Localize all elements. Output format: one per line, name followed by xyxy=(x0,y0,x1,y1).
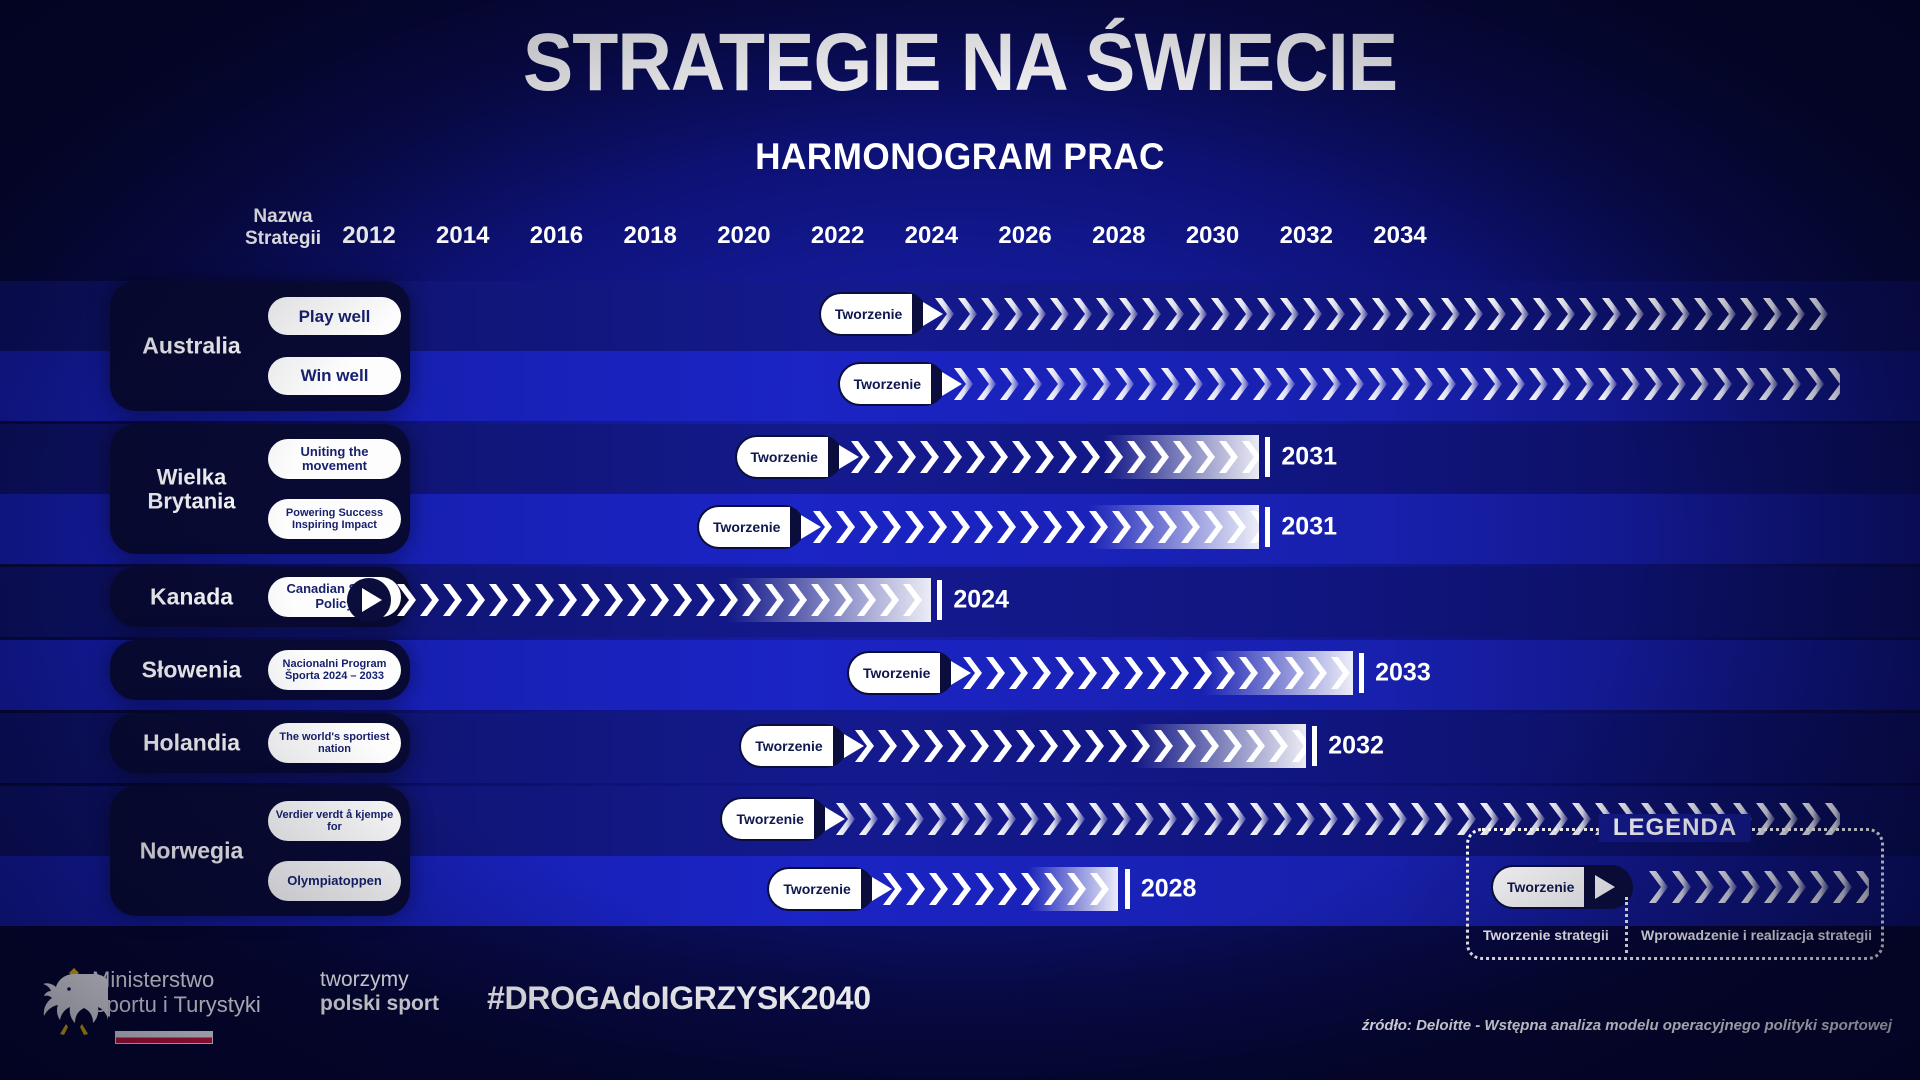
timeline-bar: 2024 xyxy=(0,578,1920,622)
source-note: źródło: Deloitte - Wstępna analiza model… xyxy=(1362,1017,1892,1034)
implementation-phase-chevrons xyxy=(881,867,1118,911)
creation-phase-pill[interactable]: Tworzenie xyxy=(697,505,805,549)
legend-creation-label: Tworzenie xyxy=(1493,867,1584,907)
end-year-label: 2031 xyxy=(1281,443,1337,472)
creation-phase-pill[interactable]: Tworzenie xyxy=(847,651,955,695)
creation-phase-pill[interactable]: Tworzenie xyxy=(767,867,875,911)
year-axis: 2012201420162018202020222024202620282030… xyxy=(0,222,1920,266)
slogan: tworzymy polski sport xyxy=(320,968,439,1016)
polish-flag-bar xyxy=(115,1031,213,1044)
creation-phase-label: Tworzenie xyxy=(699,507,790,547)
end-marker-tick xyxy=(1125,869,1130,909)
page-title: STRATEGIE NA ŚWIECIE xyxy=(77,22,1843,104)
legend-chevron-strip xyxy=(1647,865,1869,909)
creation-phase-label: Tworzenie xyxy=(722,799,813,839)
legend-caption-right: Wprowadzenie i realizacja strategii xyxy=(1641,927,1872,943)
creation-phase-pill[interactable]: Tworzenie xyxy=(819,292,927,336)
axis-year-2016: 2016 xyxy=(530,222,583,250)
implementation-phase-chevrons xyxy=(853,724,1306,768)
slogan-line2: polski sport xyxy=(320,992,439,1016)
axis-year-2032: 2032 xyxy=(1280,222,1333,250)
legend-title: LEGENDA xyxy=(1599,814,1751,842)
timeline-bar: Tworzenie 2032 xyxy=(0,724,1920,768)
timeline-bar: Tworzenie xyxy=(0,362,1920,406)
creation-phase-pill[interactable]: Tworzenie xyxy=(838,362,946,406)
creation-phase-label: Tworzenie xyxy=(849,653,940,693)
country-name: Norwegia xyxy=(124,839,259,864)
axis-year-2024: 2024 xyxy=(905,222,958,250)
creation-phase-pill[interactable]: Tworzenie xyxy=(739,724,847,768)
legend-caption-left: Tworzenie strategii xyxy=(1483,927,1609,943)
ministry-line1: Ministerstwo xyxy=(92,968,261,993)
axis-year-2012: 2012 xyxy=(342,222,395,250)
creation-phase-label: Tworzenie xyxy=(741,726,832,766)
axis-year-2030: 2030 xyxy=(1186,222,1239,250)
campaign-hashtag: #DROGAdoIGRZYSK2040 xyxy=(487,980,871,1017)
end-marker-tick xyxy=(1312,726,1317,766)
creation-phase-label: Tworzenie xyxy=(821,294,912,334)
timeline-bar: Tworzenie xyxy=(0,292,1920,336)
play-triangle-icon xyxy=(1595,875,1615,899)
timeline-bar: Tworzenie 2033 xyxy=(0,651,1920,695)
implementation-phase-chevrons xyxy=(395,578,931,622)
axis-year-2020: 2020 xyxy=(717,222,770,250)
implementation-phase-chevrons xyxy=(933,292,1840,336)
legend-creation-sample: Tworzenie xyxy=(1491,865,1633,909)
play-button-start[interactable] xyxy=(347,578,391,622)
ministry-line2: Sportu i Turystyki xyxy=(92,993,261,1018)
creation-phase-label: Tworzenie xyxy=(840,364,931,404)
timeline-bar: Tworzenie 2031 xyxy=(0,435,1920,479)
creation-phase-label: Tworzenie xyxy=(769,869,860,909)
end-year-label: 2033 xyxy=(1375,659,1431,688)
creation-phase-pill[interactable]: Tworzenie xyxy=(735,435,843,479)
axis-year-2014: 2014 xyxy=(436,222,489,250)
page-subtitle: HARMONOGRAM PRAC xyxy=(48,136,1872,178)
end-marker-tick xyxy=(1265,507,1270,547)
implementation-phase-chevrons xyxy=(961,651,1353,695)
axis-year-2022: 2022 xyxy=(811,222,864,250)
end-marker-tick xyxy=(1359,653,1364,693)
creation-phase-label: Tworzenie xyxy=(737,437,828,477)
country-name: Australia xyxy=(124,334,259,359)
end-year-label: 2032 xyxy=(1328,732,1384,761)
axis-year-2026: 2026 xyxy=(998,222,1051,250)
axis-year-2018: 2018 xyxy=(623,222,676,250)
legend-box: LEGENDA Tworzenie Tworzenie strategii Wp… xyxy=(1466,828,1884,960)
implementation-phase-chevrons xyxy=(811,505,1259,549)
slogan-line1: tworzymy xyxy=(320,968,439,992)
legend-divider xyxy=(1625,897,1628,953)
infographic-canvas: STRATEGIE NA ŚWIECIE HARMONOGRAM PRAC Na… xyxy=(0,0,1920,1080)
end-year-label: 2028 xyxy=(1141,875,1197,904)
end-year-label: 2031 xyxy=(1281,513,1337,542)
implementation-phase-chevrons xyxy=(952,362,1840,406)
timeline-bar: Tworzenie 2031 xyxy=(0,505,1920,549)
axis-year-2028: 2028 xyxy=(1092,222,1145,250)
end-marker-tick xyxy=(937,580,942,620)
ministry-wordmark: Ministerstwo Sportu i Turystyki xyxy=(92,968,261,1017)
play-triangle-icon xyxy=(362,588,382,612)
end-marker-tick xyxy=(1265,437,1270,477)
creation-phase-pill[interactable]: Tworzenie xyxy=(720,797,828,841)
axis-year-2034: 2034 xyxy=(1373,222,1426,250)
end-year-label: 2024 xyxy=(953,586,1009,615)
implementation-phase-chevrons xyxy=(849,435,1260,479)
